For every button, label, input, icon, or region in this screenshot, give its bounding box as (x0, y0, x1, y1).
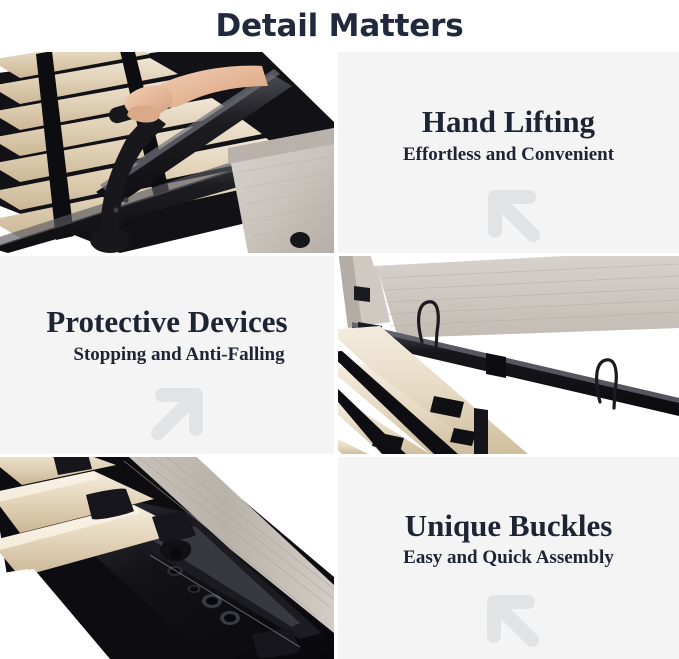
photo-hand-lifting-art (0, 52, 334, 253)
photo-hand-lifting (0, 52, 334, 253)
photo-unique-buckles-art (0, 457, 334, 659)
product-detail-infographic: Detail Matters (0, 0, 679, 659)
photo-protective-devices (338, 256, 679, 454)
title-bar: Detail Matters (0, 0, 679, 52)
photo-unique-buckles (0, 457, 334, 659)
panel-buckles: Unique Buckles Easy and Quick Assembly (338, 457, 679, 659)
panel-protective: Protective Devices Stopping and Anti-Fal… (0, 256, 334, 454)
panel-buckles-subheading: Easy and Quick Assembly (403, 548, 614, 569)
arrow-up-left-icon (477, 179, 549, 251)
panel-hand-lifting: Hand Lifting Effortless and Convenient (338, 52, 679, 253)
panel-buckles-heading: Unique Buckles (405, 510, 613, 543)
panel-protective-subheading: Stopping and Anti-Falling (73, 345, 284, 366)
page-title: Detail Matters (216, 11, 464, 42)
arrow-up-right-icon (142, 377, 214, 449)
panel-protective-heading: Protective Devices (46, 306, 287, 339)
panel-hand-lifting-heading: Hand Lifting (422, 106, 595, 139)
photo-protective-devices-art (338, 256, 679, 454)
arrow-up-left-icon (476, 584, 548, 656)
panel-hand-lifting-subheading: Effortless and Convenient (403, 145, 614, 166)
detail-grid: Hand Lifting Effortless and Convenient P… (0, 52, 679, 659)
